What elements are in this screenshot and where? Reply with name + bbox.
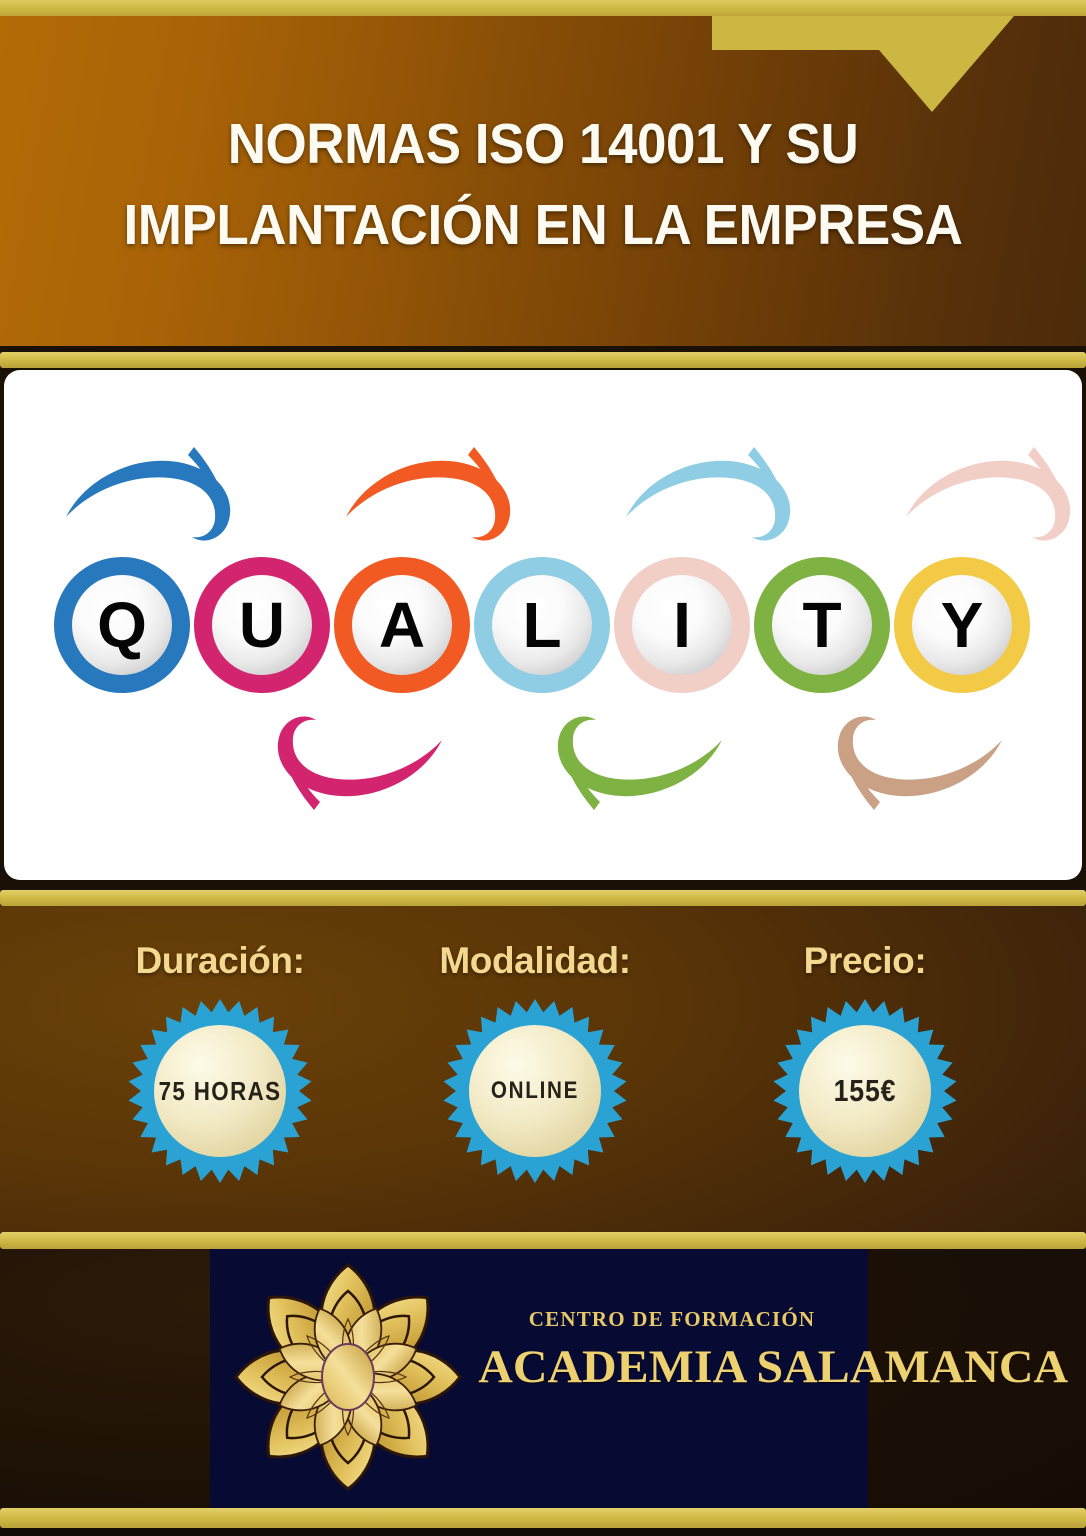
info-column-duracion: Duración: 75 HORAS (70, 940, 370, 1184)
bottom-gold-band (0, 1508, 1086, 1528)
swoosh-arrow-icon-bot-1 (558, 716, 722, 810)
badge-modalidad: ONLINE (442, 998, 628, 1184)
swoosh-arrow-icon-bot-0 (278, 716, 442, 810)
course-info-band: Duración: 75 HORAS Modalidad (0, 906, 1086, 1232)
title-line-1: NORMAS ISO 14001 Y SU (55, 104, 1032, 185)
brand-name: ACADEMIA SALAMANCA (478, 1340, 866, 1394)
letter-circle-l-glyph: L (522, 589, 561, 661)
info-column-modalidad: Modalidad: ONLINE (385, 940, 685, 1184)
page-title: NORMAS ISO 14001 Y SU IMPLANTACIÓN EN LA… (38, 104, 1048, 266)
badge-duracion: 75 HORAS (127, 998, 313, 1184)
quality-illustration: QUALITY (4, 370, 1082, 880)
label-precio: Precio: (715, 940, 1015, 982)
letter-circle-t-glyph: T (802, 589, 841, 661)
swoosh-arrow-icon-top-3 (906, 447, 1070, 541)
value-modalidad: ONLINE (455, 998, 615, 1184)
letter-circle-u-glyph: U (239, 589, 285, 661)
letter-circle-q-glyph: Q (97, 589, 147, 661)
info-column-precio: Precio: 155€ (715, 940, 1015, 1184)
label-modalidad: Modalidad: (385, 940, 685, 982)
gold-divider-middle (0, 890, 1086, 906)
title-line-2: IMPLANTACIÓN EN LA EMPRESA (55, 185, 1032, 266)
header-notch-triangle-icon (850, 16, 1014, 112)
brand-wordmark: CENTRO DE FORMACIÓN ACADEMIA SALAMANCA (482, 1307, 862, 1394)
swoosh-arrow-icon-top-1 (346, 447, 510, 541)
course-poster: NORMAS ISO 14001 Y SU IMPLANTACIÓN EN LA… (0, 0, 1086, 1536)
brand-band: CENTRO DE FORMACIÓN ACADEMIA SALAMANCA (0, 1249, 1086, 1508)
bottom-dark-edge (0, 1528, 1086, 1536)
brand-subtitle: CENTRO DE FORMACIÓN (482, 1307, 862, 1332)
value-duracion: 75 HORAS (140, 998, 300, 1184)
poster-header: NORMAS ISO 14001 Y SU IMPLANTACIÓN EN LA… (0, 16, 1086, 346)
label-duracion: Duración: (70, 940, 370, 982)
swoosh-arrow-icon-top-0 (66, 447, 230, 541)
swoosh-arrow-icon-top-2 (626, 447, 790, 541)
gold-mandala-flower-icon (228, 1257, 468, 1497)
value-precio: 155€ (785, 998, 945, 1184)
gold-divider-top (0, 352, 1086, 368)
letter-circle-i-glyph: I (673, 589, 691, 661)
letter-circle-a-glyph: A (379, 589, 425, 661)
badge-precio: 155€ (772, 998, 958, 1184)
hero-card: QUALITY (4, 370, 1082, 880)
letter-circle-y-glyph: Y (941, 589, 984, 661)
gold-divider-bottom (0, 1232, 1086, 1249)
brand-panel: CENTRO DE FORMACIÓN ACADEMIA SALAMANCA (210, 1249, 868, 1508)
swoosh-arrow-icon-bot-2 (838, 716, 1002, 810)
top-gold-strip (0, 0, 1086, 16)
